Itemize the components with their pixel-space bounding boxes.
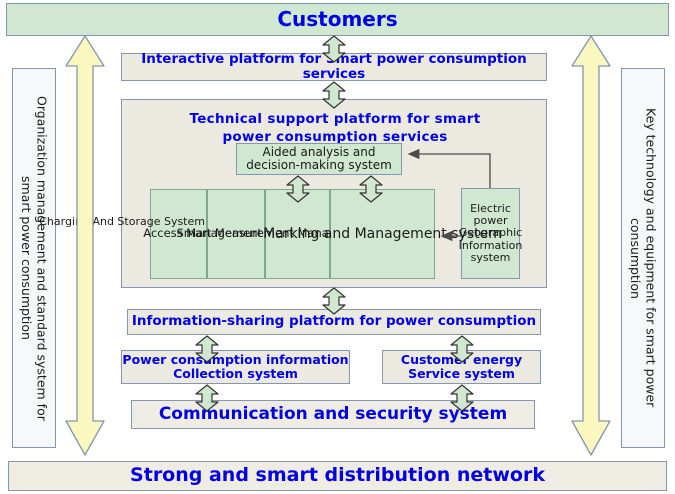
distribution-network-banner[interactable]: Strong and smart distribution network — [8, 461, 667, 491]
technical-support-platform-title: Technical support platform for smart pow… — [168, 110, 502, 146]
customer-energy-service-system-box[interactable]: Customer energy Service system — [382, 350, 541, 384]
information-sharing-platform-box[interactable]: Information-sharing platform for power c… — [127, 309, 541, 335]
left-panel-label: Organization management and standard sys… — [18, 93, 49, 423]
marking-and-management-system-box[interactable]: Marking and Management system — [330, 189, 435, 279]
left-yellow-double-arrow — [66, 36, 104, 455]
diagram-canvas: Customers Organization management and st… — [0, 0, 675, 494]
right-yellow-double-arrow — [572, 36, 610, 455]
power-consumption-collection-system-box[interactable]: Power consumption information Collection… — [121, 350, 350, 384]
communication-security-system-box[interactable]: Communication and security system — [131, 400, 535, 429]
left-vertical-panel-organization-management[interactable]: Organization management and standard sys… — [12, 68, 56, 448]
right-panel-label: Key technology and equipment for smart p… — [627, 93, 658, 423]
right-vertical-panel-key-technology[interactable]: Key technology and equipment for smart p… — [621, 68, 665, 448]
interactive-platform-box[interactable]: Interactive platform for Smart power con… — [121, 53, 547, 81]
aided-analysis-decision-making-system-box[interactable]: Aided analysis and decision-making syste… — [236, 143, 402, 175]
customers-banner[interactable]: Customers — [6, 3, 669, 36]
